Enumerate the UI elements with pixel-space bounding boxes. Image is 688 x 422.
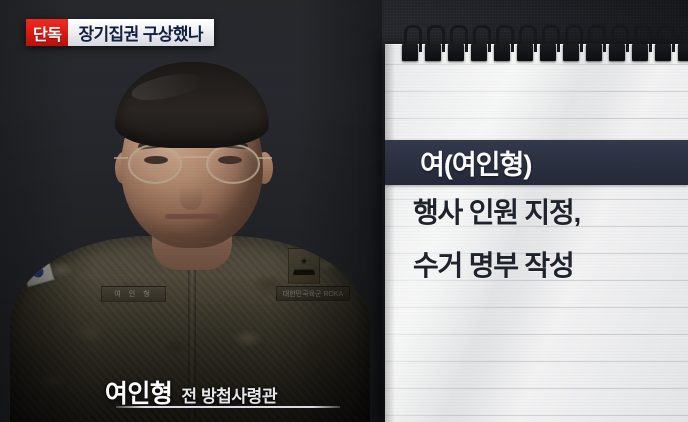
mouth — [165, 214, 219, 219]
notepad-ruled-lines — [385, 44, 688, 422]
lens-left — [128, 144, 182, 184]
lens-right — [206, 144, 260, 184]
glasses-temple-right — [258, 157, 272, 159]
notepad-band-text: 여(여인형) — [385, 143, 531, 182]
notepad-graphic — [385, 44, 688, 422]
glasses-temple-left — [114, 157, 128, 159]
lower-third-caption: 여인형 전 방첩사령관 — [0, 374, 382, 410]
broadcast-screenshot: 여 인 형 ★ 대한민국육군 ROKA 여인형 전 방 — [0, 0, 688, 422]
glasses-bridge — [178, 156, 208, 158]
caption-person-role: 전 방첩사령관 — [181, 382, 277, 407]
eyeglasses-icon — [126, 144, 260, 180]
caption-underline — [116, 406, 340, 408]
headline-banner: 단독 장기집권 구상했나 — [26, 19, 214, 46]
notepad-text-line-2: 행사 인원 지정, — [385, 191, 688, 231]
caption-person-name: 여인형 — [105, 374, 173, 410]
notepad-highlight-band: 여(여인형) — [385, 140, 688, 185]
notepad-text-line-3: 수거 명부 작성 — [385, 244, 688, 284]
headline-text: 장기집권 구상했나 — [68, 19, 213, 46]
exclusive-tag: 단독 — [26, 19, 68, 46]
portrait-photo: 여 인 형 ★ 대한민국육군 ROKA — [0, 0, 382, 422]
